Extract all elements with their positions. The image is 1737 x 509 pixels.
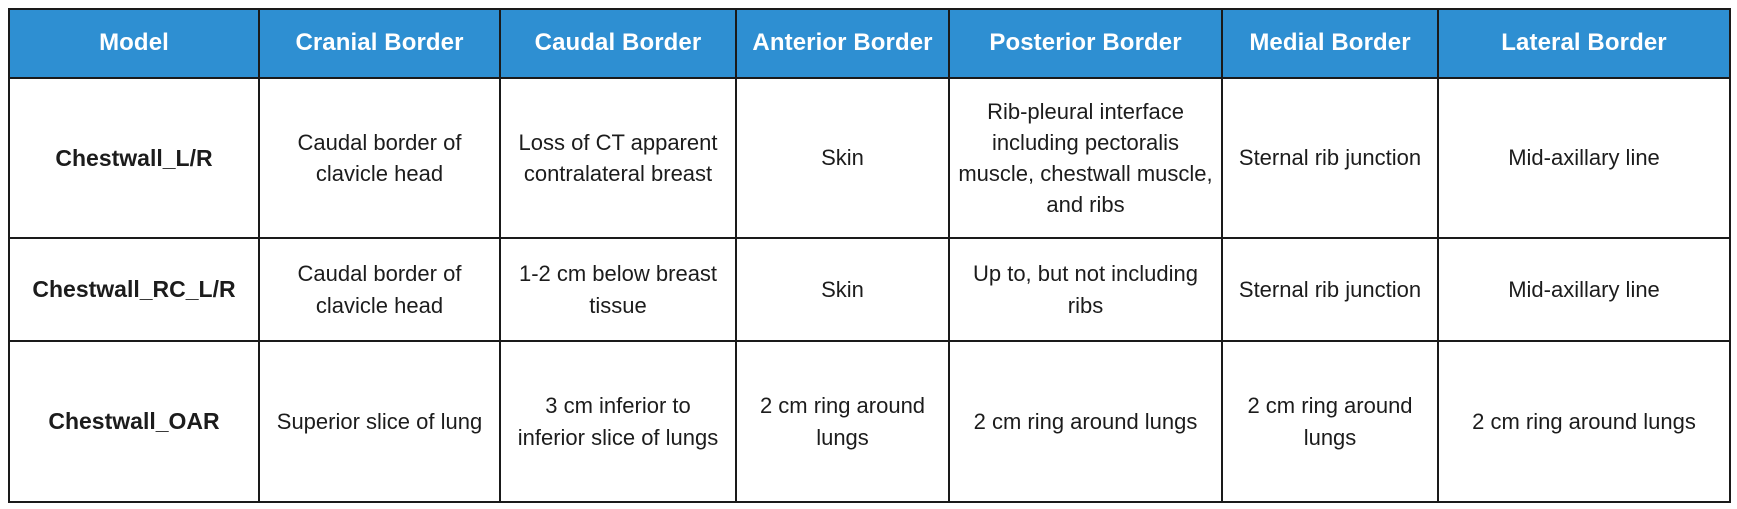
table-header-row: Model Cranial Border Caudal Border Anter… xyxy=(9,9,1730,78)
table-row: Chestwall_L/R Caudal border of clavicle … xyxy=(9,78,1730,238)
cell-caudal: 3 cm inferior to inferior slice of lungs xyxy=(500,341,736,502)
cell-medial: Sternal rib junction xyxy=(1222,78,1438,238)
cell-medial: 2 cm ring around lungs xyxy=(1222,341,1438,502)
table-body: Chestwall_L/R Caudal border of clavicle … xyxy=(9,78,1730,502)
cell-caudal: Loss of CT apparent contralateral breast xyxy=(500,78,736,238)
cell-model: Chestwall_RC_L/R xyxy=(9,238,259,341)
cell-anterior: 2 cm ring around lungs xyxy=(736,341,949,502)
cell-anterior: Skin xyxy=(736,78,949,238)
border-definitions-table: Model Cranial Border Caudal Border Anter… xyxy=(8,8,1731,503)
column-header-model[interactable]: Model xyxy=(9,9,259,78)
table-row: Chestwall_OAR Superior slice of lung 3 c… xyxy=(9,341,1730,502)
column-header-caudal[interactable]: Caudal Border xyxy=(500,9,736,78)
cell-model: Chestwall_OAR xyxy=(9,341,259,502)
cell-medial: Sternal rib junction xyxy=(1222,238,1438,341)
cell-anterior: Skin xyxy=(736,238,949,341)
cell-posterior: 2 cm ring around lungs xyxy=(949,341,1222,502)
cell-lateral: Mid-axillary line xyxy=(1438,238,1730,341)
cell-cranial: Caudal border of clavicle head xyxy=(259,238,500,341)
column-header-posterior[interactable]: Posterior Border xyxy=(949,9,1222,78)
column-header-anterior[interactable]: Anterior Border xyxy=(736,9,949,78)
table-row: Chestwall_RC_L/R Caudal border of clavic… xyxy=(9,238,1730,341)
column-header-lateral[interactable]: Lateral Border xyxy=(1438,9,1730,78)
cell-cranial: Caudal border of clavicle head xyxy=(259,78,500,238)
cell-cranial: Superior slice of lung xyxy=(259,341,500,502)
cell-caudal: 1-2 cm below breast tissue xyxy=(500,238,736,341)
cell-posterior: Up to, but not including ribs xyxy=(949,238,1222,341)
cell-lateral: 2 cm ring around lungs xyxy=(1438,341,1730,502)
cell-model: Chestwall_L/R xyxy=(9,78,259,238)
table-header: Model Cranial Border Caudal Border Anter… xyxy=(9,9,1730,78)
cell-lateral: Mid-axillary line xyxy=(1438,78,1730,238)
border-definitions-table-container: Model Cranial Border Caudal Border Anter… xyxy=(8,8,1729,501)
column-header-cranial[interactable]: Cranial Border xyxy=(259,9,500,78)
column-header-medial[interactable]: Medial Border xyxy=(1222,9,1438,78)
cell-posterior: Rib-pleural interface including pectoral… xyxy=(949,78,1222,238)
